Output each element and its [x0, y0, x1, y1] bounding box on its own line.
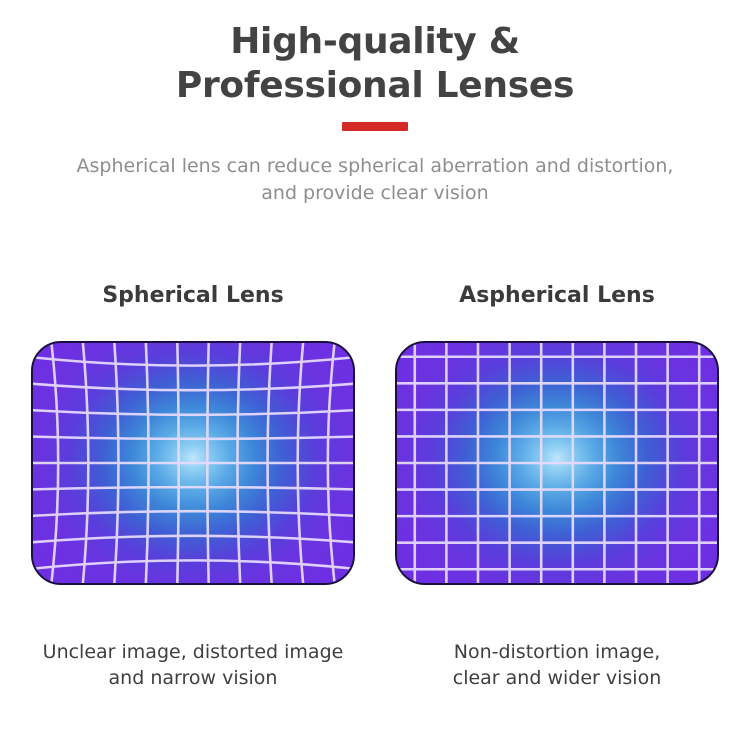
panel-heading-aspherical: Aspherical Lens [387, 280, 727, 312]
caption-spherical-line-1: Unclear image, distorted image [23, 640, 363, 666]
page-subtitle: Aspherical lens can reduce spherical abe… [0, 153, 750, 208]
page-subtitle-line-2: and provide clear vision [0, 180, 750, 208]
lens-grid-straight [397, 343, 717, 583]
accent-underline-bar [342, 122, 408, 131]
page-title-line-2: Professional Lenses [0, 64, 750, 108]
caption-aspherical: Non-distortion image, clear and wider vi… [387, 640, 727, 691]
page-subtitle-line-1: Aspherical lens can reduce spherical abe… [0, 153, 750, 181]
caption-spherical-line-2: and narrow vision [23, 666, 363, 692]
lens-image-aspherical [395, 341, 719, 585]
lens-body-spherical [31, 341, 355, 585]
lens-grid-distorted [33, 343, 353, 583]
panel-heading-spherical: Spherical Lens [23, 280, 363, 312]
panel-aspherical-lens: Aspherical Lens [387, 280, 727, 585]
header: High-quality & Professional Lenses Asphe… [0, 0, 750, 208]
caption-spherical: Unclear image, distorted image and narro… [23, 640, 363, 691]
page-title: High-quality & Professional Lenses [0, 0, 750, 131]
caption-aspherical-line-2: clear and wider vision [387, 666, 727, 692]
page-title-line-1: High-quality & [0, 20, 750, 64]
caption-aspherical-line-1: Non-distortion image, [387, 640, 727, 666]
lens-image-spherical [31, 341, 355, 585]
panel-spherical-lens: Spherical Lens [23, 280, 363, 585]
lens-body-aspherical [395, 341, 719, 585]
